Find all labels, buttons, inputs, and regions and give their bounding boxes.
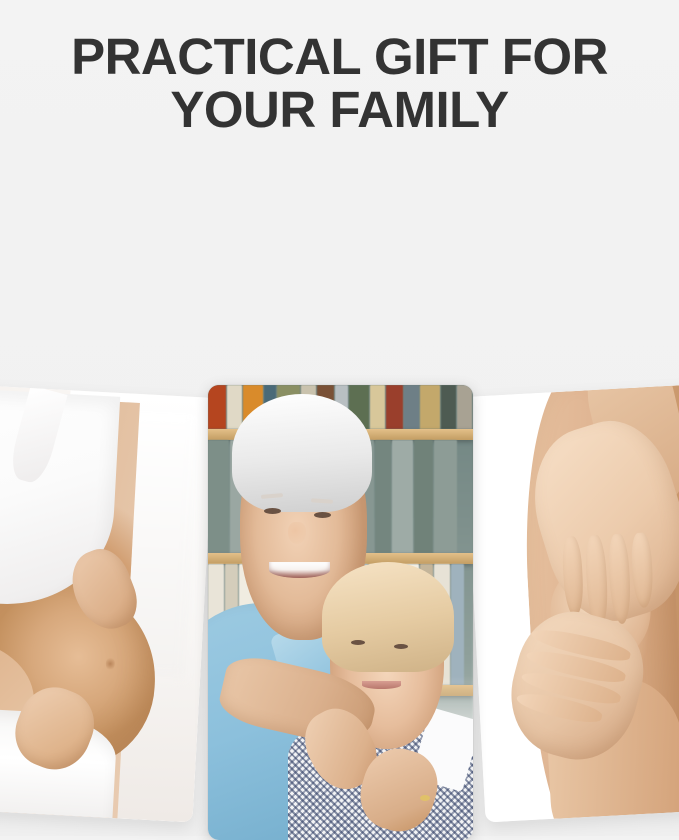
man-nose — [288, 522, 306, 544]
gallery-image-the-elderly[interactable] — [208, 385, 473, 840]
woman-smile — [362, 681, 402, 689]
gallery-image-knee-injured[interactable] — [463, 383, 679, 822]
marketing-banner: PRACTICAL GIFT FOR YOUR FAMILY — [0, 0, 679, 836]
gallery-image-pregnant-woman[interactable] — [0, 385, 215, 823]
headline-line-2: YOUR FAMILY — [0, 83, 679, 136]
the-elderly-photo — [208, 385, 473, 840]
image-gallery — [0, 185, 679, 670]
wedding-ring — [420, 795, 430, 801]
pregnant-woman-photo — [0, 385, 215, 823]
man-eye-left — [264, 508, 281, 514]
headline-line-1: PRACTICAL GIFT FOR — [0, 30, 679, 83]
woman-eye-left — [351, 640, 365, 645]
man-white-hair — [232, 394, 372, 512]
page-title: PRACTICAL GIFT FOR YOUR FAMILY — [0, 30, 679, 136]
woman-blonde-hair — [322, 562, 455, 671]
knee-injured-photo — [463, 383, 679, 822]
